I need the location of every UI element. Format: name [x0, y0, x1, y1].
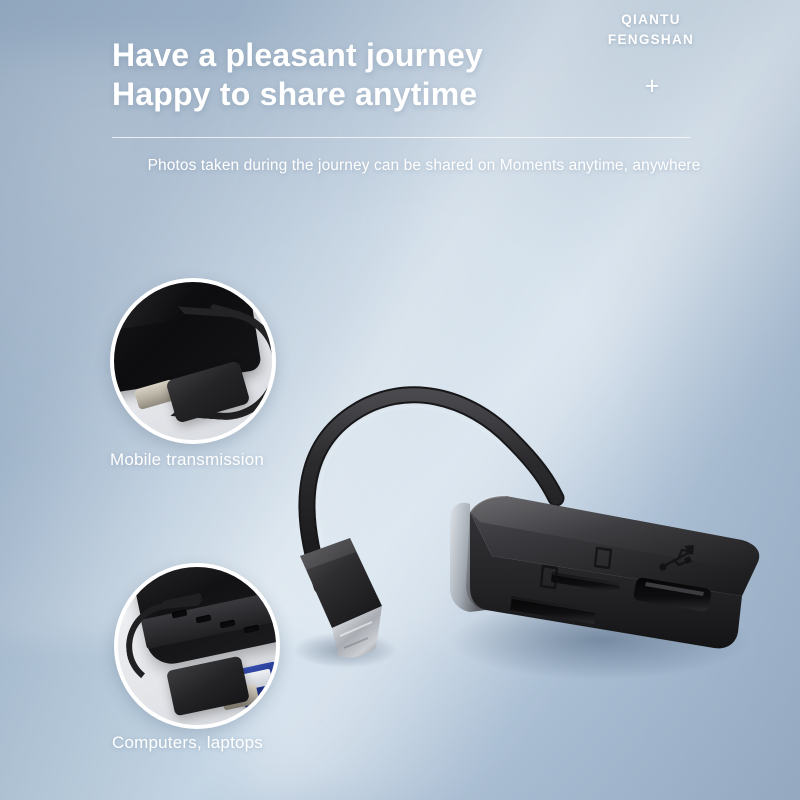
product-marketing-banner: QIANTU FENGSHAN + Have a pleasant journe…: [0, 0, 800, 800]
product-hero-image: [0, 0, 800, 800]
